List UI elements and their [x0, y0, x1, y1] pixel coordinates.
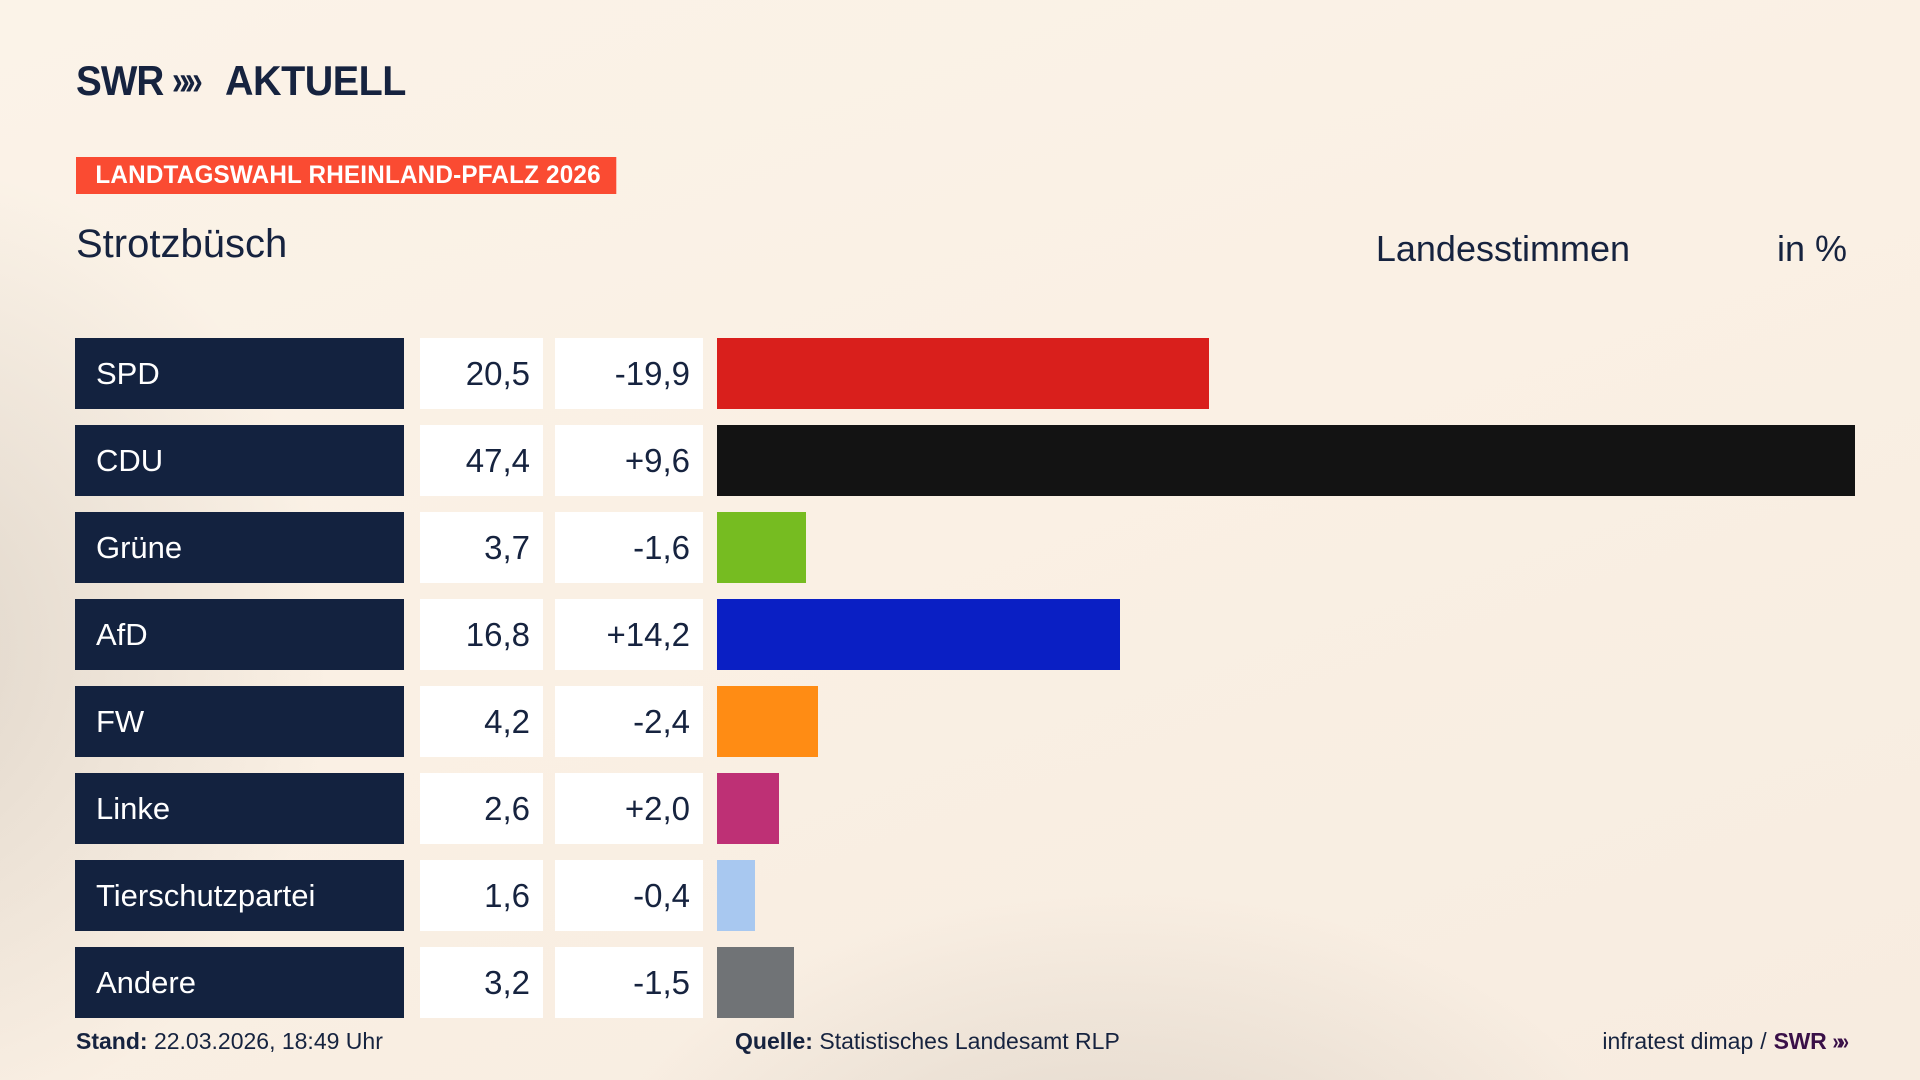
- party-result-change: -1,6: [555, 512, 703, 583]
- party-result-change: -19,9: [555, 338, 703, 409]
- party-result-value: 4,2: [420, 686, 543, 757]
- chart-row: Grüne3,7-1,6: [0, 512, 1920, 583]
- chart-row: CDU47,4+9,6: [0, 425, 1920, 496]
- credit-institute: infratest dimap: [1602, 1028, 1753, 1055]
- party-result-change: -2,4: [555, 686, 703, 757]
- swr-wordmark: SWR: [76, 60, 163, 102]
- chart-row: Tierschutzpartei1,6-0,4: [0, 860, 1920, 931]
- party-bar: [717, 338, 1209, 409]
- unit-label: in %: [1777, 228, 1847, 270]
- stand-value: 22.03.2026, 18:49 Uhr: [154, 1028, 383, 1054]
- party-name-cell: Linke: [75, 773, 404, 844]
- chart-row: Linke2,6+2,0: [0, 773, 1920, 844]
- party-result-change: +9,6: [555, 425, 703, 496]
- party-name-cell: CDU: [75, 425, 404, 496]
- location-title: Strotzbüsch: [76, 222, 287, 267]
- party-result-value: 20,5: [420, 338, 543, 409]
- credit-double-chevron-icon: »»: [1833, 1028, 1845, 1055]
- quelle-label: Quelle:: [735, 1028, 813, 1054]
- election-banner-label: LANDTAGSWAHL RHEINLAND-PFALZ 2026: [95, 161, 600, 190]
- quelle-value: Statistisches Landesamt RLP: [819, 1028, 1119, 1054]
- stand-label: Stand:: [76, 1028, 148, 1054]
- party-result-change: +14,2: [555, 599, 703, 670]
- party-result-change: -0,4: [555, 860, 703, 931]
- party-bar: [717, 425, 1855, 496]
- party-bar: [717, 947, 794, 1018]
- party-result-value: 3,2: [420, 947, 543, 1018]
- vote-type-label: Landesstimmen: [1376, 228, 1630, 270]
- party-result-value: 3,7: [420, 512, 543, 583]
- party-name-cell: Grüne: [75, 512, 404, 583]
- party-bar: [717, 860, 755, 931]
- party-name-cell: SPD: [75, 338, 404, 409]
- party-name-cell: Tierschutzpartei: [75, 860, 404, 931]
- party-result-value: 47,4: [420, 425, 543, 496]
- party-name-cell: AfD: [75, 599, 404, 670]
- party-result-value: 16,8: [420, 599, 543, 670]
- party-name-cell: FW: [75, 686, 404, 757]
- party-bar: [717, 773, 779, 844]
- double-chevron-icon: »»: [172, 60, 198, 102]
- party-name-cell: Andere: [75, 947, 404, 1018]
- chart-row: SPD20,5-19,9: [0, 338, 1920, 409]
- credit-swr: SWR: [1774, 1028, 1827, 1055]
- party-result-change: -1,5: [555, 947, 703, 1018]
- party-bar: [717, 599, 1120, 670]
- election-banner: LANDTAGSWAHL RHEINLAND-PFALZ 2026: [76, 157, 616, 194]
- party-result-change: +2,0: [555, 773, 703, 844]
- chart-row: Andere3,2-1,5: [0, 947, 1920, 1018]
- chart-row: FW4,2-2,4: [0, 686, 1920, 757]
- credit-block: infratest dimap / SWR »»: [1602, 1028, 1847, 1055]
- footer: Stand: 22.03.2026, 18:49 Uhr Quelle: Sta…: [0, 1028, 1920, 1068]
- party-result-value: 2,6: [420, 773, 543, 844]
- party-bar: [717, 686, 818, 757]
- aktuell-wordmark: AKTUELL: [225, 60, 406, 102]
- status-timestamp: Stand: 22.03.2026, 18:49 Uhr: [76, 1028, 383, 1055]
- source-note: Quelle: Statistisches Landesamt RLP: [735, 1028, 1120, 1055]
- chart-row: AfD16,8+14,2: [0, 599, 1920, 670]
- page-background: SWR »» AKTUELL LANDTAGSWAHL RHEINLAND-PF…: [0, 0, 1920, 1080]
- credit-separator: /: [1760, 1028, 1766, 1055]
- swr-aktuell-logo: SWR »» AKTUELL: [76, 58, 417, 104]
- party-bar: [717, 512, 806, 583]
- party-result-value: 1,6: [420, 860, 543, 931]
- results-chart: SPD20,5-19,9CDU47,4+9,6Grüne3,7-1,6AfD16…: [0, 338, 1920, 1034]
